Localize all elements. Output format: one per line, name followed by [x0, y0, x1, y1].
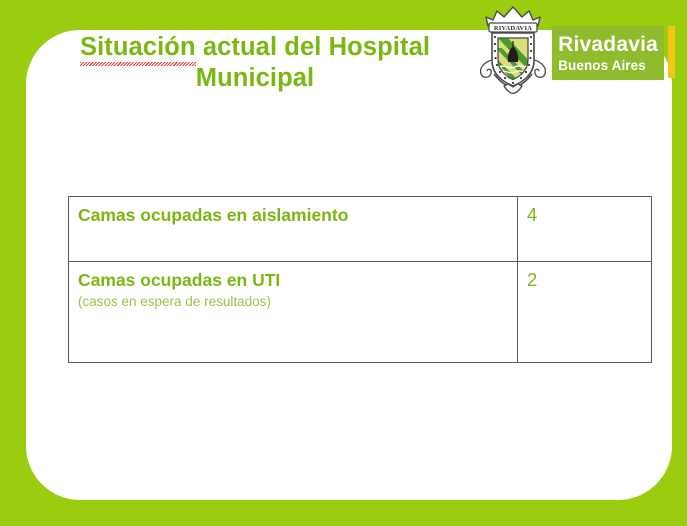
- row-2-note: (casos en espera de resultados): [78, 294, 508, 310]
- slide-canvas: RIVADAVIA: [0, 0, 687, 526]
- rivadavia-logo: RIVADAVIA: [476, 4, 675, 96]
- page-title: Situación actual del Hospital Municipal: [40, 32, 470, 94]
- title-line-2: Municipal: [40, 63, 470, 94]
- table-cell-label: Camas ocupadas en aislamiento: [69, 197, 518, 262]
- coat-of-arms-icon: RIVADAVIA: [476, 4, 550, 96]
- row-1-label: Camas ocupadas en aislamiento: [78, 205, 508, 226]
- row-2-value: 2: [527, 270, 642, 290]
- title-line-1-rest: actual del Hospital: [196, 33, 430, 61]
- wordmark-sub: Buenos Aires: [558, 59, 646, 73]
- gold-accent-bar: [668, 26, 675, 78]
- table-cell-label: Camas ocupadas en UTI (casos en espera d…: [69, 262, 518, 363]
- svg-text:RIVADAVIA: RIVADAVIA: [494, 25, 532, 32]
- row-2-label: Camas ocupadas en UTI: [78, 270, 508, 291]
- wordmark-main: Rivadavia: [558, 34, 658, 55]
- row-1-value: 4: [527, 205, 642, 225]
- title-line-1: Situación actual del Hospital: [40, 32, 470, 63]
- table-cell-value: 2: [518, 262, 652, 363]
- wordmark: Rivadavia Buenos Aires: [552, 26, 664, 80]
- title-spellchecked-word: Situación: [80, 32, 196, 63]
- table-cell-value: 4: [518, 197, 652, 262]
- table-row: Camas ocupadas en aislamiento 4: [69, 197, 652, 262]
- hospital-status-table: Camas ocupadas en aislamiento 4 Camas oc…: [68, 196, 652, 363]
- table-row: Camas ocupadas en UTI (casos en espera d…: [69, 262, 652, 363]
